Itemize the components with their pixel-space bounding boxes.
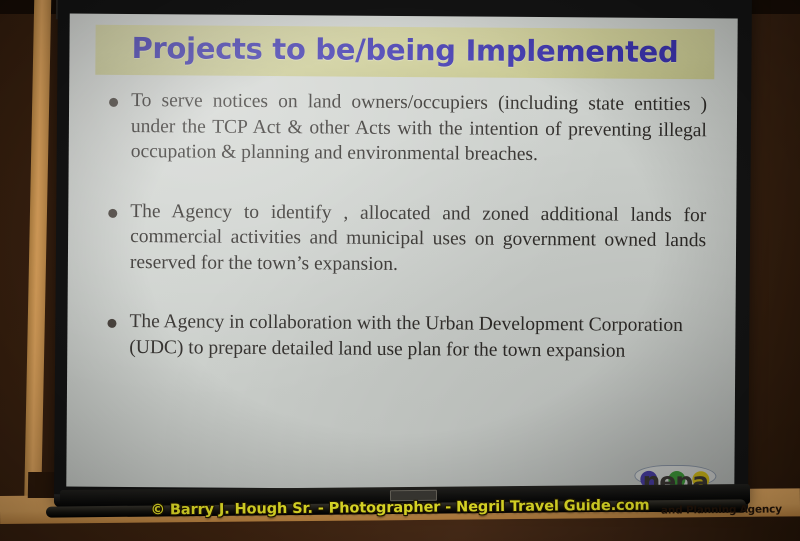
bullet-dot-icon [109,98,118,107]
presentation-slide: Projects to be/being Implemented To serv… [66,14,737,492]
bullet-text: The Agency in collaboration with the Urb… [129,309,705,364]
list-item: To serve notices on land owners/occupier… [109,88,708,169]
bullet-dot-icon [108,208,117,217]
slide-title-band: Projects to be/being Implemented [95,25,714,80]
list-item: The Agency in collaboration with the Urb… [107,309,705,364]
screen-brand-plate [390,490,437,501]
slide-bullet-list: To serve notices on land owners/occupier… [107,88,707,398]
bullet-text: To serve notices on land owners/occupier… [131,88,708,169]
photo-scene: Projects to be/being Implemented To serv… [0,0,800,541]
list-item: The Agency to identify , allocated and z… [108,198,707,279]
slide-title: Projects to be/being Implemented [95,31,714,70]
bullet-dot-icon [107,319,116,328]
agency-caption: and Planning Agency [661,503,782,516]
bullet-text: The Agency to identify , allocated and z… [130,199,707,280]
